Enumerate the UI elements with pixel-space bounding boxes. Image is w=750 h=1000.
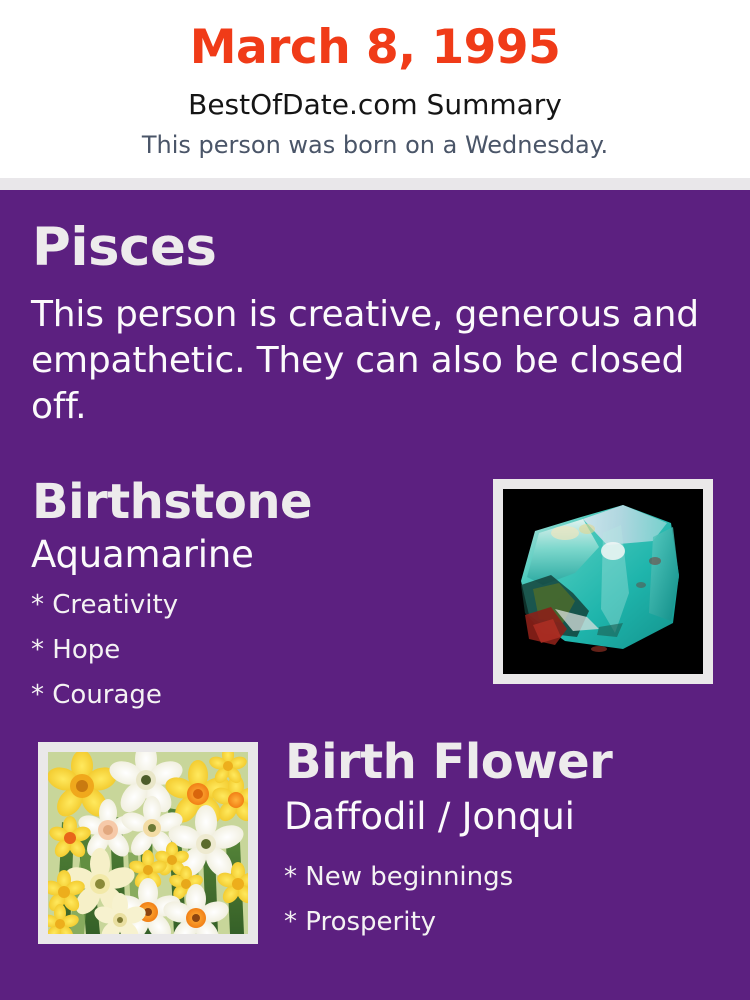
birthstone-image-frame xyxy=(493,479,713,684)
site-summary-label: BestOfDate.com Summary xyxy=(0,88,750,122)
summary-card: March 8, 1995 BestOfDate.com Summary Thi… xyxy=(0,0,750,1000)
list-item: * Courage xyxy=(31,673,461,718)
birthstone-heading: Birthstone xyxy=(32,476,312,529)
page-title-date: March 8, 1995 xyxy=(0,22,750,74)
birthstone-name: Aquamarine xyxy=(31,534,254,577)
card-header: March 8, 1995 BestOfDate.com Summary Thi… xyxy=(0,0,750,178)
birth-flower-image xyxy=(48,752,248,934)
daffodil-flowers-icon xyxy=(48,752,248,934)
list-item: * Prosperity xyxy=(284,900,724,945)
birth-flower-heading: Birth Flower xyxy=(285,736,612,789)
birthstone-trait-list: * Creativity * Hope * Courage xyxy=(31,583,461,718)
zodiac-sign-title: Pisces xyxy=(32,219,216,277)
list-item: * Creativity xyxy=(31,583,461,628)
birthstone-image xyxy=(503,489,703,674)
list-item: * Hope xyxy=(31,628,461,673)
birth-flower-name: Daffodil / Jonqui xyxy=(284,796,575,839)
birth-day-note: This person was born on a Wednesday. xyxy=(0,131,750,160)
birth-flower-image-frame xyxy=(38,742,258,944)
zodiac-description: This person is creative, generous and em… xyxy=(31,292,721,430)
header-divider xyxy=(0,178,750,190)
list-item: * New beginnings xyxy=(284,855,724,900)
birth-flower-trait-list: * New beginnings * Prosperity xyxy=(284,855,724,945)
aquamarine-crystal-icon xyxy=(503,489,703,674)
